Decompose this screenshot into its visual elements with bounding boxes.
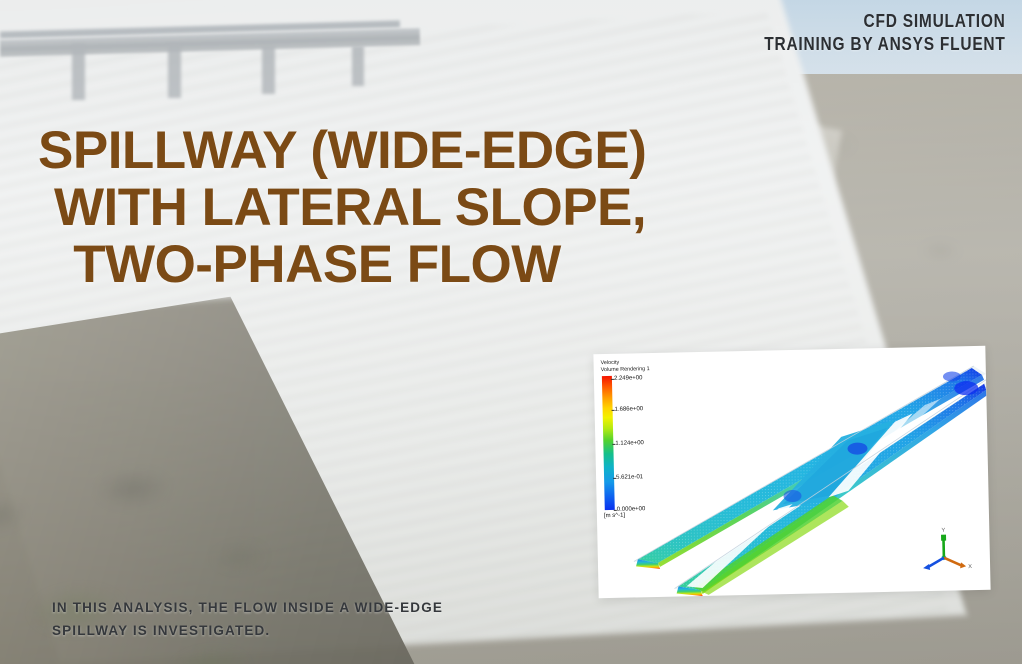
- title-line-2: WITH LATERAL SLOPE,: [38, 179, 658, 236]
- header-line-1: CFD SIMULATION: [765, 10, 1006, 33]
- caption-line-1: IN THIS ANALYSIS, THE FLOW INSIDE A WIDE…: [52, 596, 572, 619]
- axis-triad-icon: Y X: [917, 524, 974, 579]
- caption-line-2: SPILLWAY IS INVESTIGATED.: [52, 619, 572, 642]
- title-line-3: TWO-PHASE FLOW: [38, 236, 658, 293]
- header-branding: CFD SIMULATION TRAINING BY ANSYS FLUENT: [765, 10, 1006, 56]
- page-title: SPILLWAY (WIDE-EDGE) WITH LATERAL SLOPE,…: [38, 122, 658, 294]
- poster-canvas: CFD SIMULATION TRAINING BY ANSYS FLUENT …: [0, 0, 1022, 664]
- crest-acceleration-band: [693, 495, 845, 592]
- title-line-1: SPILLWAY (WIDE-EDGE): [38, 122, 658, 179]
- axis-label-y: Y: [941, 528, 945, 534]
- cfd-result-panel: Velocity Volume Rendering 1 2.249e+00 1.…: [593, 346, 990, 598]
- description-caption: IN THIS ANALYSIS, THE FLOW INSIDE A WIDE…: [52, 596, 572, 642]
- header-line-2: TRAINING BY ANSYS FLUENT: [765, 33, 1006, 56]
- axis-label-x: X: [968, 564, 972, 570]
